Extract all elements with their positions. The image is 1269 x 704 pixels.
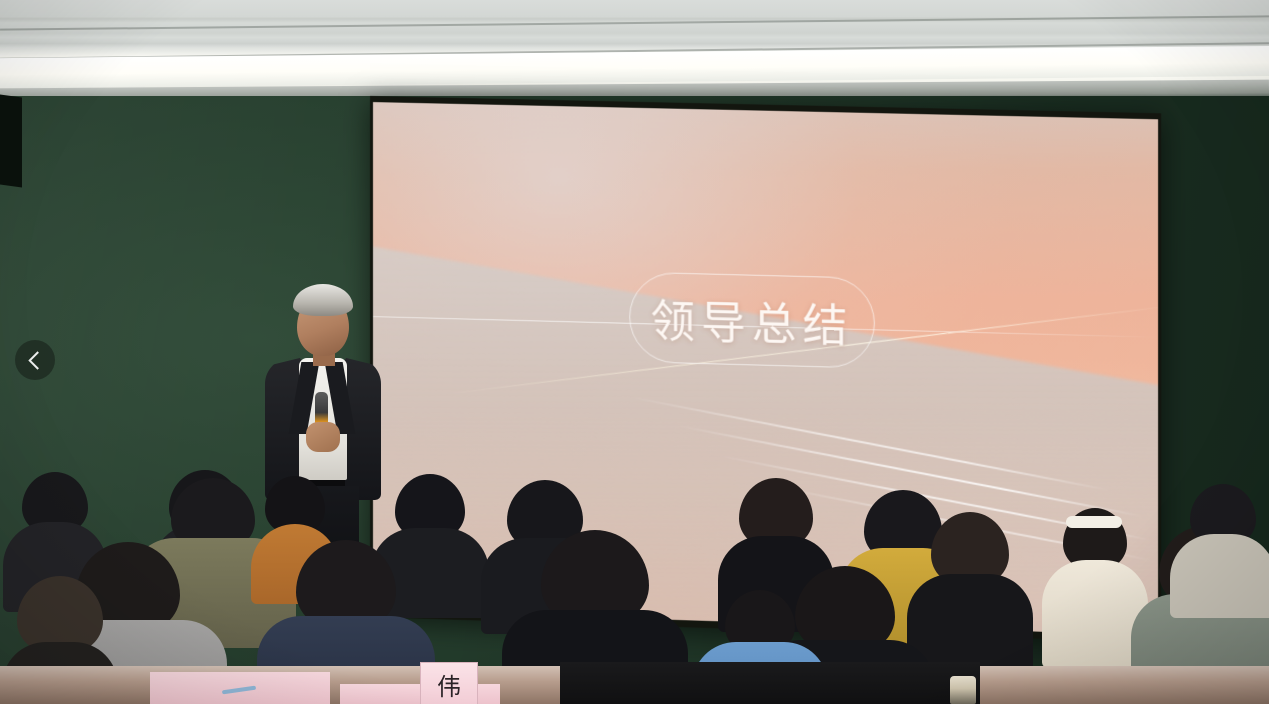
chevron-left-icon (28, 351, 46, 369)
previous-image-button[interactable] (15, 340, 55, 380)
attendee-right-edge (1168, 484, 1269, 604)
water-bottle (950, 676, 976, 704)
presenter-hair (293, 284, 353, 316)
headband (1066, 516, 1122, 528)
desk-dark-section (560, 662, 980, 704)
photo-viewer: 领导总结 (0, 0, 1269, 704)
name-placard-text: 伟 (437, 667, 461, 702)
ceiling-seam (0, 15, 1269, 30)
torso (1170, 534, 1269, 618)
slide-title: 领导总结 (650, 285, 853, 355)
slide-title-pill: 领导总结 (629, 272, 875, 369)
name-placard: 伟 (420, 662, 478, 704)
wall-left-panel (0, 94, 22, 187)
